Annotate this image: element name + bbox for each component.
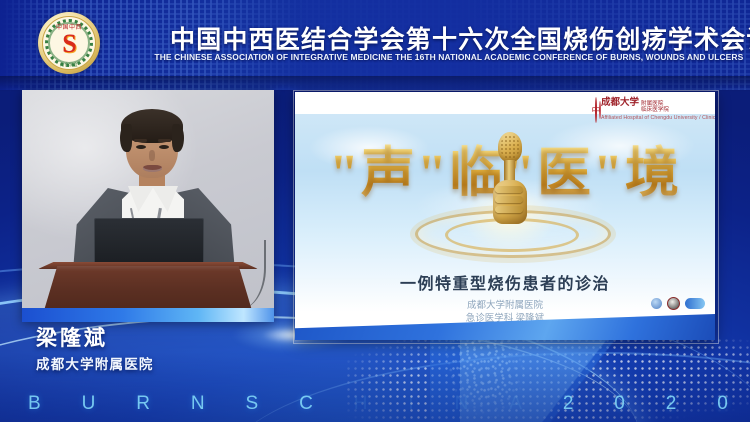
speaker-video-panel[interactable]: S bbox=[22, 90, 274, 322]
wordmark-letter: 2 bbox=[666, 393, 677, 415]
slide-partner-badges bbox=[651, 297, 705, 310]
hand-finger-1 bbox=[495, 186, 523, 193]
speaker-hair-left bbox=[120, 124, 132, 152]
microphone-grille bbox=[500, 135, 520, 159]
logo-bottom-characters: 结合学会 bbox=[60, 62, 78, 68]
hospital-logo: 成都大学 附属医院 临床医学院 Affiliated Hospital of C… bbox=[595, 96, 713, 124]
wordmark-letter: I bbox=[408, 393, 413, 415]
partner-badge-3-icon bbox=[685, 298, 705, 309]
wordmark-letter: C bbox=[299, 393, 313, 415]
conference-broadcast-screen: 中国中西 S 结合学会 中国中西医结合学会第十六次全国烧伤创疡学术会议 THE … bbox=[0, 0, 750, 422]
presentation-slide[interactable]: 成都大学 附属医院 临床医学院 Affiliated Hospital of C… bbox=[295, 92, 715, 340]
association-logo: 中国中西 S 结合学会 bbox=[38, 12, 100, 74]
partner-badge-2-icon bbox=[667, 297, 680, 310]
wordmark-letter: 0 bbox=[717, 393, 728, 415]
conference-title-english: THE CHINESE ASSOCIATION OF INTEGRATIVE M… bbox=[154, 52, 735, 62]
speaker-eyebrow-right bbox=[158, 139, 171, 142]
speaker-eye-left bbox=[136, 145, 146, 149]
slide-subtitle: 一例特重型烧伤患者的诊治 bbox=[295, 270, 715, 294]
wordmark-letter: A bbox=[509, 393, 522, 415]
partner-badge-1-icon bbox=[651, 298, 662, 309]
speaker-hair-right bbox=[172, 124, 184, 152]
speaker-eye-right bbox=[159, 145, 169, 149]
hand-finger-3 bbox=[495, 206, 523, 213]
hospital-logo-mark-icon bbox=[595, 97, 597, 123]
wordmark-letter: U bbox=[82, 393, 96, 415]
wordmark-letter: N bbox=[191, 393, 205, 415]
wordmark-letter: N bbox=[455, 393, 469, 415]
logo-center-glyph: S bbox=[62, 29, 75, 59]
hospital-name-sub-b: 临床医学院 bbox=[641, 107, 669, 113]
video-bottom-strip bbox=[22, 308, 274, 322]
hand-finger-2 bbox=[495, 196, 523, 203]
speaker-nose bbox=[149, 150, 155, 161]
wordmark-letter: S bbox=[246, 393, 259, 415]
hospital-name-main: 成都大学 bbox=[601, 99, 639, 109]
microphone-icon bbox=[491, 132, 527, 228]
speaker-eyebrow-left bbox=[134, 139, 147, 142]
wordmark-letter: 0 bbox=[614, 393, 625, 415]
wordmark-letter: H bbox=[354, 393, 368, 415]
speaker-name: 梁隆斌 bbox=[36, 322, 108, 352]
conference-title-chinese: 中国中西医结合学会第十六次全国烧伤创疡学术会议 bbox=[170, 20, 720, 56]
hospital-name-english: Affiliated Hospital of Chengdu Universit… bbox=[601, 116, 715, 121]
wordmark-letter: R bbox=[136, 393, 150, 415]
event-wordmark: BURNSCHINA2020 bbox=[28, 391, 728, 417]
speaker-organization: 成都大学附属医院 bbox=[36, 353, 154, 373]
speaker-mouth bbox=[143, 165, 162, 172]
hospital-logo-text: 成都大学 附属医院 临床医学院 Affiliated Hospital of C… bbox=[601, 99, 715, 121]
wordmark-letter: B bbox=[28, 393, 41, 415]
wordmark-letter: 2 bbox=[563, 393, 574, 415]
